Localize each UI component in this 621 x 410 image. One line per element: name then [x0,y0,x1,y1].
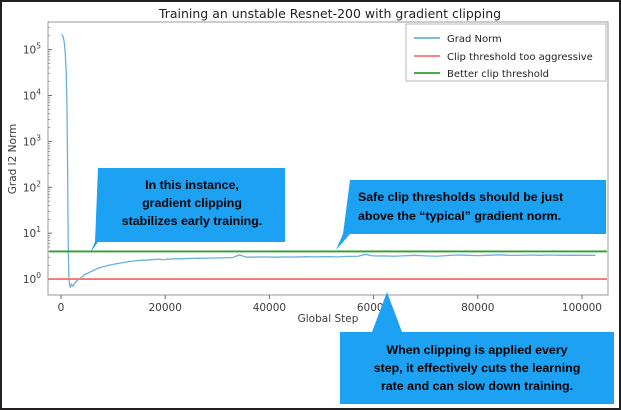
callout-early-training[interactable]: In this instance, gradient clipping stab… [90,168,285,253]
chart-legend: Grad Norm Clip threshold too aggressive … [406,24,606,81]
x-axis-label: Global Step [298,313,359,325]
x-tick-label: 40000 [253,302,286,314]
callout-safe-threshold-line-1: Safe clip thresholds should be just [358,190,563,204]
callout-clipping-every-step-line-2: step, it effectively cuts the learning [374,361,581,375]
legend-label-better-clip-threshold: Better clip threshold [447,69,549,80]
x-tick-label: 100000 [562,302,602,314]
callout-early-training-line-2: gradient clipping [142,196,242,210]
y-axis-label: Grad l2 Norm [7,124,19,194]
legend-label-clip-threshold-too-aggressive: Clip threshold too aggressive [447,52,593,63]
callout-early-training-line-1: In this instance, [145,178,239,192]
callout-clipping-every-step-line-3: rate and can slow down training. [381,379,573,393]
callout-safe-threshold-line-2: above the “typical” gradient norm. [358,209,561,223]
chart-screenshot: Training an unstable Resnet-200 with gra… [0,0,621,410]
figure-canvas: Training an unstable Resnet-200 with gra… [2,2,619,408]
x-tick-label: 80000 [461,302,494,314]
legend-label-grad-norm: Grad Norm [447,34,502,45]
callout-clipping-every-step-line-1: When clipping is applied every [386,343,567,357]
callout-early-training-line-3: stabilizes early training. [122,214,262,228]
x-tick-label: 0 [58,302,65,314]
chart-title: Training an unstable Resnet-200 with gra… [158,6,501,21]
x-tick-label: 20000 [149,302,182,314]
